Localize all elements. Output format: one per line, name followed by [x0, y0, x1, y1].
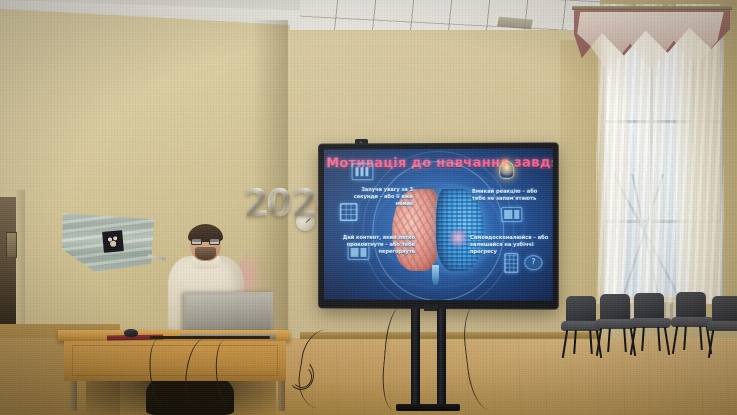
baseboard: [300, 332, 600, 339]
balloon-digit: 0: [266, 183, 292, 223]
desk-shadow: [86, 378, 276, 415]
tv-display[interactable]: Мотивація до навчання завдяки ШІ: [319, 143, 558, 308]
tv-stand-pole: [411, 308, 420, 408]
slide-bullet-top-right: Вмикай реакцію – або тебе не запам'ятают…: [472, 189, 547, 203]
desk-cable: [150, 336, 270, 339]
brain-glow-node: [447, 229, 467, 247]
photo-scene: 2 0 2 6: [0, 0, 737, 415]
brain-stem: [432, 265, 439, 285]
slide-bullet-top-left: Запучи увагу за 3 секунди – або її вже н…: [336, 187, 413, 208]
desk-leg: [70, 381, 77, 411]
presentation-slide: Мотивація до навчання завдяки ШІ: [324, 148, 553, 300]
chair-back: [566, 296, 596, 323]
glasses-bridge: [202, 241, 209, 242]
computer-mouse[interactable]: [124, 329, 138, 337]
tv-stand-base: [396, 404, 460, 411]
chart-icon: [352, 163, 374, 180]
tv-stand-pole: [437, 308, 446, 408]
curtain-rod: [572, 6, 732, 10]
door-frame: [16, 190, 25, 330]
chair-back: [676, 292, 706, 319]
chair-back: [634, 293, 664, 320]
question-bubble-icon: [524, 255, 542, 270]
presenter-beard: [195, 247, 216, 260]
slide-bullet-bottom-right: Самовдосконалюйся – або залишайся на узб…: [470, 235, 549, 256]
chair-back: [712, 296, 737, 323]
desk-leg: [278, 381, 285, 411]
wall-picture: [6, 232, 17, 258]
banner-emblem: [102, 230, 124, 253]
book-icon: [501, 207, 522, 222]
chair-back: [600, 294, 630, 321]
eyeglasses-icon: [191, 238, 220, 245]
slide-bullet-bottom-left: Дай контент, який легко проковтнути – аб…: [332, 235, 415, 256]
cable-coil: [292, 366, 312, 388]
glasses-lens: [209, 238, 220, 245]
tv-screen: Мотивація до навчання завдяки ШІ: [324, 148, 553, 300]
lightbulb-icon: [499, 161, 514, 179]
chair-seat: [706, 321, 737, 331]
glasses-lens: [191, 238, 202, 245]
tv-stand-neck: [424, 305, 438, 311]
balloon-digit: 2: [290, 183, 317, 224]
